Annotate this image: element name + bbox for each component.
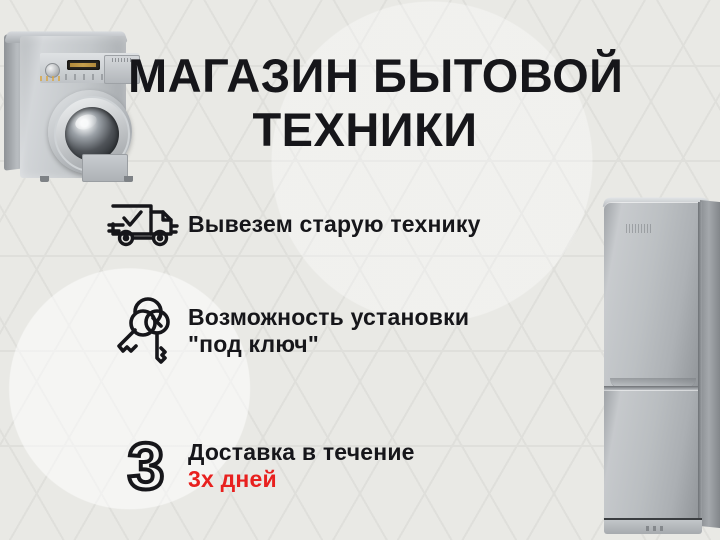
washer-buttons	[65, 74, 105, 80]
washer-indicator-lights	[40, 76, 62, 81]
feature-item-delivery-3-days: 3 Доставка в течение 3х дней	[104, 412, 415, 520]
washer-body	[20, 36, 126, 178]
feature-text-1: Вывезем старую технику	[188, 211, 481, 238]
feature-text-3: Доставка в течение 3х дней	[188, 412, 415, 520]
keys-icon	[104, 296, 188, 366]
feature-item-turnkey-installation: Возможность установки "под ключ"	[104, 296, 469, 366]
promo-poster: МАГАЗИН БЫТОВОЙ ТЕХНИКИ Вывезем старую т…	[0, 0, 720, 540]
washer-filter-hatch	[82, 154, 128, 182]
feature-item-delivery-removal: Вывезем старую технику	[104, 198, 481, 250]
fridge-freezer-door	[604, 390, 702, 530]
number-three-glyph: 3	[128, 433, 165, 499]
washer-foot-right	[124, 176, 133, 182]
delivery-truck-check-icon	[104, 198, 188, 250]
fridge-base-vent	[646, 526, 664, 531]
washing-machine-image	[4, 24, 130, 176]
fridge-brand-badge	[626, 224, 652, 233]
refrigerator-image	[600, 196, 720, 540]
washer-door-glass	[65, 107, 119, 161]
feature-text-3-highlight: 3х дней	[188, 466, 415, 493]
title-line-2: ТЕХНИКИ	[128, 106, 602, 153]
fridge-front-edge	[698, 202, 702, 530]
fridge-side-panel	[700, 200, 720, 528]
feature-text-3-main: Доставка в течение	[188, 439, 415, 465]
title-line-1: МАГАЗИН БЫТОВОЙ	[128, 52, 602, 99]
washer-display	[67, 60, 100, 70]
washer-foot-left	[40, 176, 49, 182]
fridge-upper-door	[604, 202, 702, 388]
feature-text-2: Возможность установки "под ключ"	[188, 304, 469, 358]
poster-title: МАГАЗИН БЫТОВОЙ ТЕХНИКИ	[128, 52, 602, 153]
number-three-outline-icon: 3	[104, 433, 188, 499]
